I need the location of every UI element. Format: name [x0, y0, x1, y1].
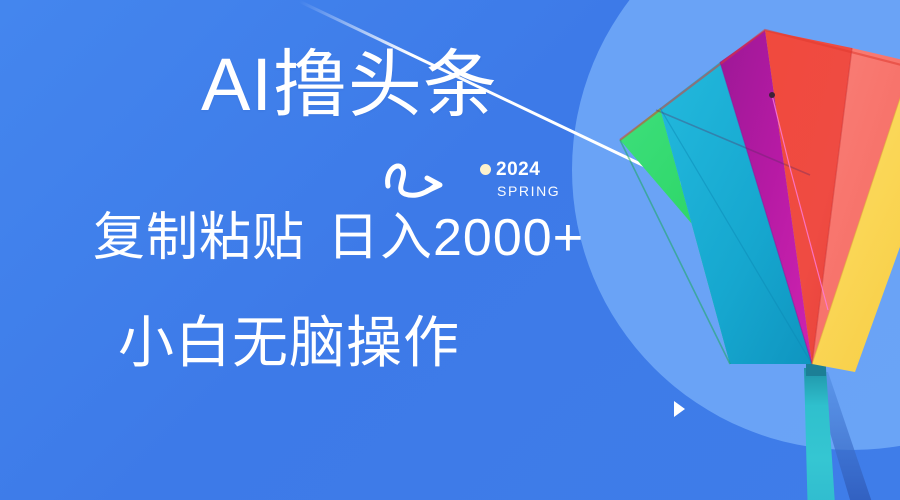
- badge-season: SPRING: [497, 184, 562, 198]
- curly-arrow-icon: [383, 150, 459, 206]
- subtitle-right: 日入2000+: [327, 209, 584, 267]
- subtitle-left: 复制粘贴: [93, 209, 305, 267]
- badge-dot-icon: [480, 164, 491, 175]
- badge-year: 2024: [496, 160, 540, 179]
- kite-illustration: [560, 0, 900, 500]
- page-title: AI撸头条: [201, 48, 498, 122]
- tagline: 小白无脑操作: [118, 315, 460, 371]
- subtitle-line: 复制粘贴日入2000+: [93, 212, 584, 264]
- season-badge: 2024 SPRING: [480, 160, 562, 198]
- poster-canvas: AI撸头条 2024 SPRING 复制粘贴日入2000+ 小白无脑操作: [0, 0, 900, 500]
- play-triangle-icon: [674, 401, 685, 417]
